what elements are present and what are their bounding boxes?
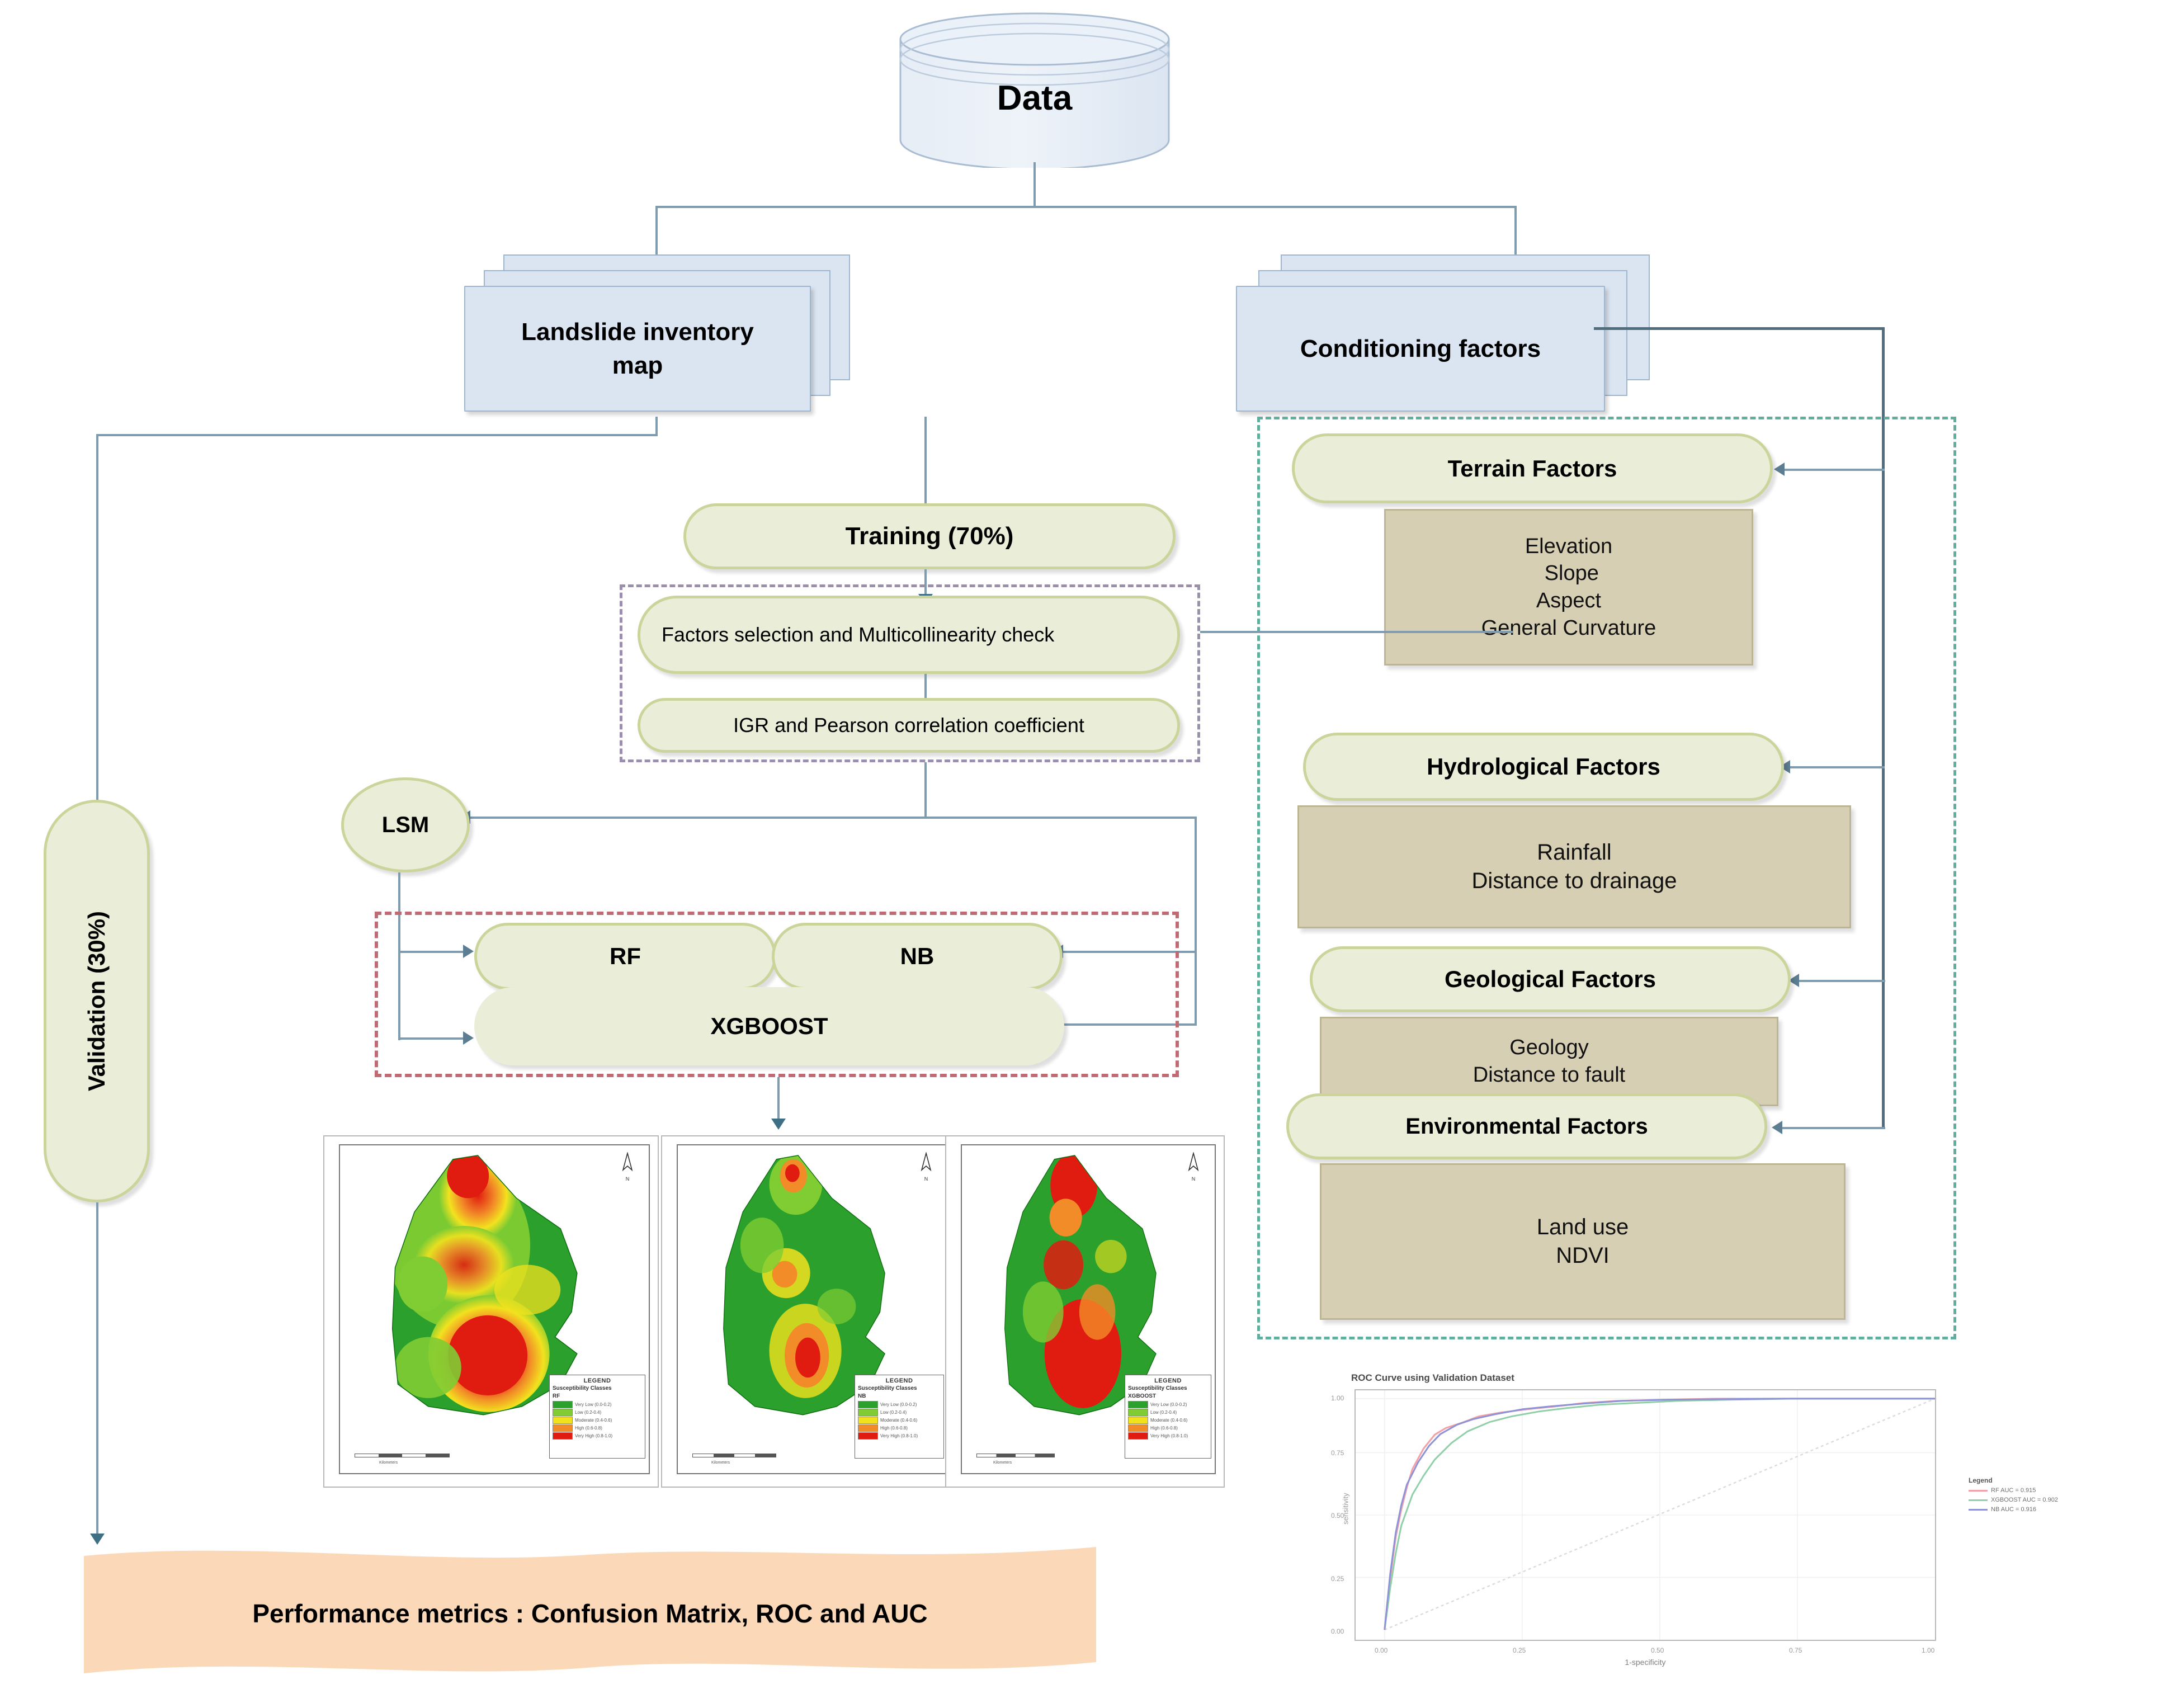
roc-x-axis-label: 1-specificity xyxy=(1578,1658,1712,1667)
map-xgboost-legend-model: XGBOOST xyxy=(1128,1393,1208,1400)
conditioning-factors-label: Conditioning factors xyxy=(1300,335,1541,363)
terrain-factors-label: Terrain Factors xyxy=(1448,455,1617,482)
arrowhead-models-to-maps xyxy=(771,1119,786,1130)
environmental-factors-items: Land use NDVI xyxy=(1320,1163,1846,1320)
landslide-inventory-stack[interactable]: Landslide inventory map xyxy=(464,254,856,417)
north-arrow-letter-nb: N xyxy=(915,1176,937,1182)
group-geological-factors[interactable]: Geological Factors xyxy=(1310,946,1791,1012)
susceptibility-map-xgboost[interactable]: N Kilometers LEGEND Susceptibility Class… xyxy=(945,1135,1225,1488)
legend-row: High (0.6-0.8) xyxy=(553,1424,642,1432)
legend-label: Low (0.2-0.4) xyxy=(1150,1410,1177,1415)
model-nb-label: NB xyxy=(900,943,935,970)
lsm-label: LSM xyxy=(382,813,429,838)
scalebar-unit-nb: Kilometers xyxy=(711,1461,730,1465)
connector-inventory-to-left xyxy=(96,434,658,436)
legend-label: Moderate (0.4-0.6) xyxy=(880,1418,917,1423)
model-rf-label: RF xyxy=(610,943,641,970)
terrain-item-2: Aspect xyxy=(1536,587,1601,615)
legend-row: Low (0.2-0.4) xyxy=(553,1409,642,1416)
map-xgboost-frame: N Kilometers LEGEND Susceptibility Class… xyxy=(961,1144,1216,1474)
roc-xtick-1: 0.25 xyxy=(1513,1646,1526,1654)
map-nb-frame: N Kilometers LEGEND Susceptibility Class… xyxy=(677,1144,948,1474)
legend-label: Very High (0.8-1.0) xyxy=(880,1433,918,1438)
legend-row: Low (0.2-0.4) xyxy=(858,1409,941,1416)
model-nb-node[interactable]: NB xyxy=(772,923,1063,990)
map-nb-legend-model: NB xyxy=(858,1393,941,1400)
geological-item-0: Geology xyxy=(1509,1034,1589,1061)
arrowhead-validation-to-metrics xyxy=(90,1534,105,1545)
environmental-item-1: NDVI xyxy=(1556,1242,1610,1270)
legend-row: High (0.6-0.8) xyxy=(858,1424,941,1432)
legend-label: High (0.6-0.8) xyxy=(880,1426,908,1431)
legend-swatch xyxy=(858,1401,878,1408)
connector-inventory-down xyxy=(924,417,927,505)
inventory-label: Landslide inventory map xyxy=(521,315,754,382)
group-hydrological-factors[interactable]: Hydrological Factors xyxy=(1303,733,1784,801)
model-rf-node[interactable]: RF xyxy=(474,923,776,990)
flowchart-canvas: Data Landslide inventory map Conditionin… xyxy=(0,0,2171,1708)
legend-row: Moderate (0.4-0.6) xyxy=(553,1417,642,1424)
legend-row: Moderate (0.4-0.6) xyxy=(858,1417,941,1424)
legend-label: Low (0.2-0.4) xyxy=(575,1410,601,1415)
inventory-sheet-front: Landslide inventory map xyxy=(464,286,811,412)
connector-right-loop-down xyxy=(1195,817,1197,1023)
hydrological-item-0: Rainfall xyxy=(1537,838,1611,867)
roc-legend: Legend RF AUC = 0.915 XGBOOST AUC = 0.90… xyxy=(1969,1476,2164,1516)
connector-data-down xyxy=(1033,162,1036,207)
terrain-item-0: Elevation xyxy=(1525,533,1612,560)
map-xgboost-legend-title: LEGEND xyxy=(1128,1377,1208,1384)
legend-row: Very High (0.8-1.0) xyxy=(553,1432,642,1440)
bus-from-factors xyxy=(1594,327,1885,330)
north-arrow-letter-xgboost: N xyxy=(1182,1176,1205,1182)
connector-to-factors xyxy=(1514,206,1517,262)
legend-label: Low (0.2-0.4) xyxy=(880,1410,907,1415)
data-cylinder: Data xyxy=(878,11,1191,168)
terrain-item-3: General Curvature xyxy=(1481,615,1656,642)
legend-swatch xyxy=(553,1424,573,1432)
north-arrow-rf: N xyxy=(616,1152,639,1182)
roc-plot-area: 1.00 0.75 0.50 0.25 0.00 0.00 0.25 0.50 … xyxy=(1354,1389,1936,1641)
roc-legend-swatch-rf xyxy=(1969,1490,1988,1492)
connector-data-split xyxy=(655,206,1517,208)
group-environmental-factors[interactable]: Environmental Factors xyxy=(1286,1093,1767,1159)
map-nb-legend: LEGEND Susceptibility Classes NB Very Lo… xyxy=(855,1375,944,1459)
map-nb-legend-sub: Susceptibility Classes xyxy=(858,1385,941,1392)
legend-swatch xyxy=(553,1432,573,1440)
training-node[interactable]: Training (70%) xyxy=(683,503,1176,569)
susceptibility-map-nb[interactable]: N Kilometers LEGEND Susceptibility Class… xyxy=(661,1135,957,1488)
legend-label: Very High (0.8-1.0) xyxy=(575,1433,612,1438)
legend-row: Low (0.2-0.4) xyxy=(1128,1409,1208,1416)
scalebar-rf xyxy=(355,1454,450,1457)
roc-xtick-0: 0.00 xyxy=(1375,1646,1387,1654)
connector-selection-to-bus xyxy=(1200,631,1513,633)
legend-swatch xyxy=(858,1409,878,1416)
map-xgboost-legend: LEGEND Susceptibility Classes XGBOOST Ve… xyxy=(1125,1375,1211,1459)
roc-curves xyxy=(1356,1390,1935,1640)
scalebar-unit-rf: Kilometers xyxy=(379,1461,398,1465)
roc-legend-label-xgboost: XGBOOST AUC = 0.902 xyxy=(1991,1497,2058,1503)
connector-to-inventory xyxy=(655,206,658,262)
north-arrow-icon xyxy=(620,1152,635,1174)
performance-metrics-label: Performance metrics : Confusion Matrix, … xyxy=(252,1598,927,1629)
terrain-factors-items: Elevation Slope Aspect General Curvature xyxy=(1384,509,1753,666)
connector-left-to-validation xyxy=(96,434,98,803)
legend-swatch xyxy=(553,1401,573,1408)
legend-row: Moderate (0.4-0.6) xyxy=(1128,1417,1208,1424)
connector-inventory-left-down xyxy=(655,417,658,436)
legend-label: Moderate (0.4-0.6) xyxy=(575,1418,612,1423)
legend-row: High (0.6-0.8) xyxy=(1128,1424,1208,1432)
roc-legend-item-nb: NB AUC = 0.916 xyxy=(1969,1506,2164,1513)
igr-pearson-node[interactable]: IGR and Pearson correlation coefficient xyxy=(638,698,1180,753)
lsm-node[interactable]: LSM xyxy=(341,777,470,872)
roc-legend-label-nb: NB AUC = 0.916 xyxy=(1991,1506,2036,1513)
roc-legend-label-rf: RF AUC = 0.915 xyxy=(1991,1487,2036,1494)
legend-label: Moderate (0.4-0.6) xyxy=(1150,1418,1187,1423)
roc-xtick-2: 0.50 xyxy=(1651,1646,1664,1654)
roc-legend-swatch-xgboost xyxy=(1969,1499,1988,1501)
legend-label: Very Low (0.0-0.2) xyxy=(575,1402,611,1407)
north-arrow-nb: N xyxy=(915,1152,937,1182)
roc-chart[interactable]: ROC Curve using Validation Dataset xyxy=(1325,1370,2170,1695)
connector-validation-down xyxy=(96,1202,98,1538)
model-xgboost-label: XGBOOST xyxy=(710,1013,828,1040)
roc-legend-item-xgboost: XGBOOST AUC = 0.902 xyxy=(1969,1497,2164,1503)
legend-row: Very Low (0.0-0.2) xyxy=(858,1401,941,1408)
legend-swatch xyxy=(1128,1409,1148,1416)
map-rf-legend: LEGEND Susceptibility Classes RF Very Lo… xyxy=(549,1375,645,1459)
factor-selection-node[interactable]: Factors selection and Multicollinearity … xyxy=(638,596,1180,674)
legend-swatch xyxy=(553,1409,573,1416)
legend-swatch xyxy=(1128,1432,1148,1440)
map-rf-legend-sub: Susceptibility Classes xyxy=(553,1385,642,1392)
data-cylinder-label: Data xyxy=(878,78,1191,118)
scalebar-unit-xgboost: Kilometers xyxy=(993,1461,1012,1465)
geological-factors-label: Geological Factors xyxy=(1445,966,1656,993)
factor-selection-label: Factors selection and Multicollinearity … xyxy=(662,622,1156,648)
geological-item-1: Distance to fault xyxy=(1473,1061,1625,1089)
igr-pearson-label: IGR and Pearson correlation coefficient xyxy=(733,714,1084,737)
legend-label: Very High (0.8-1.0) xyxy=(1150,1433,1188,1438)
legend-label: Very Low (0.0-0.2) xyxy=(1150,1402,1187,1407)
validation-node[interactable]: Validation (30%) xyxy=(44,800,150,1202)
roc-ytick-0: 0.00 xyxy=(1331,1627,1344,1635)
performance-metrics-banner[interactable]: Performance metrics : Confusion Matrix, … xyxy=(84,1544,1096,1683)
connector-lsm-feed xyxy=(470,817,1197,819)
legend-swatch xyxy=(858,1424,878,1432)
training-label: Training (70%) xyxy=(846,522,1014,550)
north-arrow-letter-rf: N xyxy=(616,1176,639,1182)
legend-row: Very Low (0.0-0.2) xyxy=(553,1401,642,1408)
map-xgboost-legend-sub: Susceptibility Classes xyxy=(1128,1385,1208,1392)
roc-gridlines xyxy=(1356,1390,1935,1640)
susceptibility-map-rf[interactable]: N Kilometers LEGEND Susceptibility Class… xyxy=(323,1135,659,1488)
roc-chart-title: ROC Curve using Validation Dataset xyxy=(1351,1372,1514,1384)
north-arrow-icon xyxy=(1186,1152,1201,1174)
map-rf-legend-title: LEGEND xyxy=(553,1377,642,1384)
scalebar-nb xyxy=(692,1454,776,1457)
model-xgboost-node[interactable]: XGBOOST xyxy=(474,987,1064,1065)
map-nb-legend-title: LEGEND xyxy=(858,1377,941,1384)
map-rf-frame: N Kilometers LEGEND Susceptibility Class… xyxy=(339,1144,650,1474)
legend-swatch xyxy=(1128,1401,1148,1408)
environmental-item-0: Land use xyxy=(1537,1213,1629,1242)
group-terrain-factors[interactable]: Terrain Factors xyxy=(1292,433,1773,503)
roc-y-axis-label: sensitivity xyxy=(1342,1475,1350,1542)
legend-label: High (0.6-0.8) xyxy=(1150,1426,1178,1431)
legend-swatch xyxy=(553,1417,573,1424)
legend-swatch xyxy=(858,1432,878,1440)
north-arrow-icon xyxy=(919,1152,933,1174)
roc-xtick-4: 1.00 xyxy=(1922,1646,1934,1654)
map-rf-legend-model: RF xyxy=(553,1393,642,1400)
legend-label: Very Low (0.0-0.2) xyxy=(880,1402,917,1407)
roc-legend-item-rf: RF AUC = 0.915 xyxy=(1969,1487,2164,1494)
legend-label: High (0.6-0.8) xyxy=(575,1426,602,1431)
validation-label: Validation (30%) xyxy=(83,911,110,1091)
legend-row: Very Low (0.0-0.2) xyxy=(1128,1401,1208,1408)
environmental-factors-label: Environmental Factors xyxy=(1405,1114,1648,1139)
roc-xtick-3: 0.75 xyxy=(1789,1646,1802,1654)
roc-ytick-3: 0.75 xyxy=(1331,1449,1344,1457)
roc-legend-swatch-nb xyxy=(1969,1509,1988,1511)
roc-legend-title: Legend xyxy=(1969,1476,2164,1484)
roc-ytick-1: 0.25 xyxy=(1331,1575,1344,1583)
scalebar-xgboost xyxy=(976,1454,1055,1457)
conditioning-factors-stack[interactable]: Conditioning factors xyxy=(1236,254,1661,417)
hydrological-factors-label: Hydrological Factors xyxy=(1427,753,1660,780)
geological-factors-items: Geology Distance to fault xyxy=(1320,1017,1778,1106)
factors-sheet-front: Conditioning factors xyxy=(1236,286,1605,412)
legend-row: Very High (0.8-1.0) xyxy=(858,1432,941,1440)
hydrological-item-1: Distance to drainage xyxy=(1472,867,1677,895)
roc-ytick-4: 1.00 xyxy=(1331,1394,1344,1402)
connector-igr-down xyxy=(924,762,927,818)
hydrological-factors-items: Rainfall Distance to drainage xyxy=(1297,805,1851,928)
legend-swatch xyxy=(1128,1424,1148,1432)
legend-swatch xyxy=(1128,1417,1148,1424)
terrain-item-1: Slope xyxy=(1538,560,1599,587)
legend-swatch xyxy=(858,1417,878,1424)
north-arrow-xgboost: N xyxy=(1182,1152,1205,1182)
legend-row: Very High (0.8-1.0) xyxy=(1128,1432,1208,1440)
